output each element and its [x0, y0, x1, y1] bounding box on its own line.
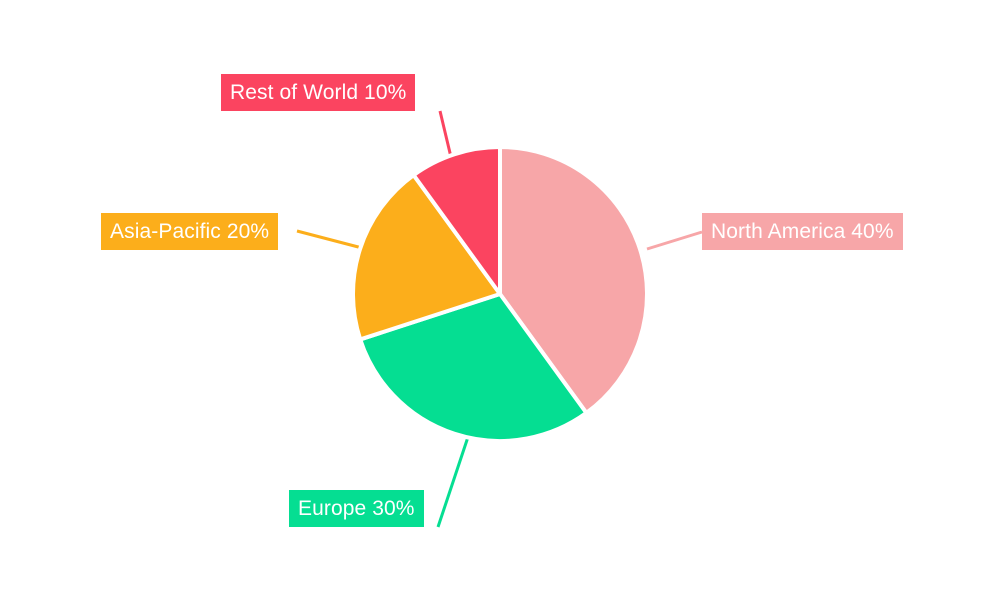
pie-slices-group	[353, 147, 647, 441]
pie-slice-label-text: Rest of World 10%	[230, 82, 406, 103]
pie-slice-label: Rest of World 10%	[221, 74, 415, 111]
pie-chart-figure: North America 40%Europe 30%Asia-Pacific …	[0, 0, 1000, 600]
pie-slice-label: North America 40%	[702, 213, 903, 250]
leader-line	[438, 437, 468, 527]
leader-line	[297, 231, 366, 249]
pie-slice-label-text: North America 40%	[711, 221, 894, 242]
pie-slice-label-text: Asia-Pacific 20%	[110, 221, 269, 242]
leader-line	[647, 232, 702, 249]
pie-chart-svg	[0, 0, 1000, 600]
pie-slice-label: Europe 30%	[289, 490, 424, 527]
pie-slice-label: Asia-Pacific 20%	[101, 213, 278, 250]
pie-slice-label-text: Europe 30%	[298, 498, 415, 519]
